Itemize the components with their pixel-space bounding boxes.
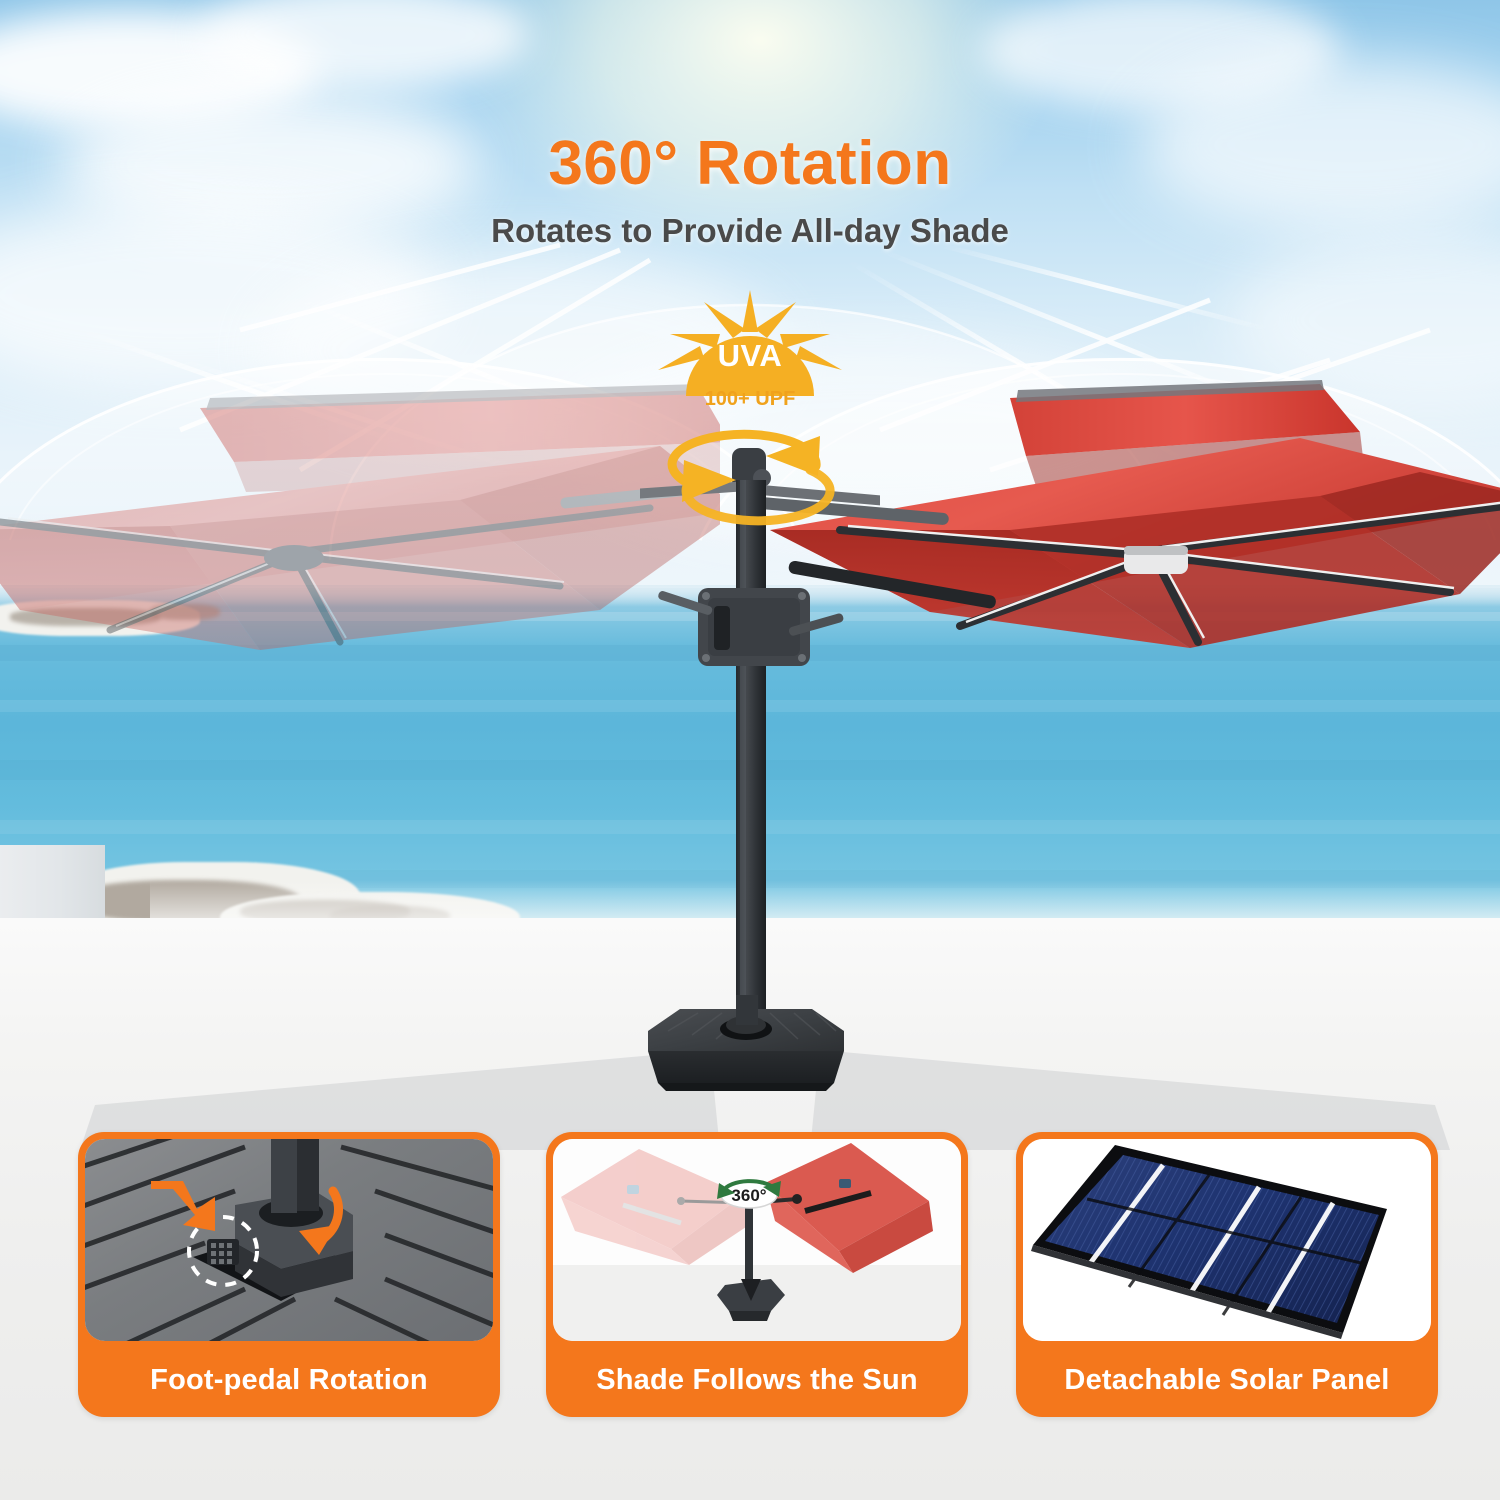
feature-panel-caption: Detachable Solar Panel [1016,1343,1438,1417]
feature-panel-foot-pedal-rotation[interactable]: Foot-pedal Rotation [78,1132,500,1417]
page-title: 360° Rotation [0,128,1500,199]
feature-panel-caption: Shade Follows the Sun [546,1343,968,1417]
deck-detail [85,1139,493,1341]
uv-badge: UVA 100+ UPF [650,288,850,418]
orange-arrow-icon [151,1181,215,1231]
marketing-image: UVA 100+ UPF 360° Rotation Rotates to Pr… [0,0,1500,1500]
rotation-arrows-icon [650,420,850,530]
uv-badge-sublabel: 100+ UPF [650,388,850,411]
umbrella-mast-assembly [640,440,880,1040]
uv-badge-label: UVA [650,338,850,374]
feature-panel-detachable-solar-panel[interactable]: Detachable Solar Panel [1016,1132,1438,1417]
page-subtitle: Rotates to Provide All-day Shade [0,212,1500,250]
solar-panel-art [1023,1139,1431,1341]
umbrella-weight-base [620,995,870,1100]
solar-panel-photo [1023,1139,1431,1341]
foot-pedal-base-photo [85,1139,493,1341]
shade-diagram: 360° [553,1139,961,1341]
umbrella-ghost-left [0,380,720,650]
umbrella-shadow-right [810,990,1450,1150]
feature-panel-caption: Foot-pedal Rotation [78,1343,500,1417]
svg-text:360°: 360° [731,1186,766,1205]
feature-panel-shade-follows-the-sun[interactable]: 360° Shade Follows the Sun [546,1132,968,1417]
feature-panels: Foot-pedal Rotation [0,1132,1500,1432]
two-position-umbrella-diagram: 360° [553,1139,961,1341]
